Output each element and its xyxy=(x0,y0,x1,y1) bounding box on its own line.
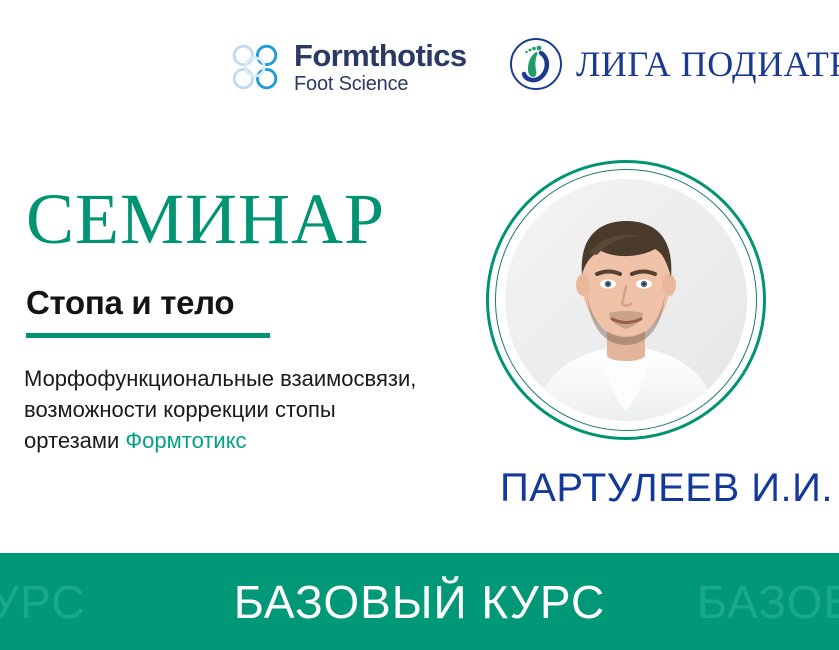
banner-track: БАЗОВЫЙ КУРС xyxy=(0,553,839,650)
clover-circles-icon xyxy=(226,38,284,96)
page-title: СЕМИНАР xyxy=(26,183,385,255)
formthotics-tagline: Foot Science xyxy=(294,74,467,94)
description-accent: Формтотикс xyxy=(125,428,246,453)
course-name: Стопа и тело xyxy=(26,284,234,322)
speaker-name: ПАРТУЛЕЕВ И.И. xyxy=(500,466,833,511)
formthotics-name: Formthotics xyxy=(294,40,467,71)
logo-liga-podiatrii: ЛИГА ПОДИАТРИИ xyxy=(508,36,839,92)
logo-formthotics: Formthotics Foot Science xyxy=(226,38,467,96)
bottom-banner: ЫЙ КУРС БАЗОВ БАЗОВЫЙ КУРС xyxy=(0,553,839,650)
banner-label: БАЗОВЫЙ КУРС xyxy=(234,579,606,625)
description-line-2: возможности коррекции стопы xyxy=(24,397,336,422)
liga-podiatrii-name: ЛИГА ПОДИАТРИИ xyxy=(576,43,839,85)
logo-row: Formthotics Foot Science ЛИГА ПОДИАТРИИ xyxy=(0,36,839,106)
formthotics-wordmark: Formthotics Foot Science xyxy=(294,40,467,94)
speaker-portrait xyxy=(486,160,766,440)
description-line-1: Морфофункциональные взаимосвязи, xyxy=(24,366,416,391)
description-line-3: ортезами xyxy=(24,428,125,453)
seminar-poster: Formthotics Foot Science ЛИГА ПОДИАТРИИ … xyxy=(0,0,839,650)
footprint-circle-icon xyxy=(508,36,564,92)
title-divider xyxy=(26,333,270,338)
course-description: Морфофункциональные взаимосвязи, возможн… xyxy=(24,363,504,457)
avatar xyxy=(505,179,747,421)
